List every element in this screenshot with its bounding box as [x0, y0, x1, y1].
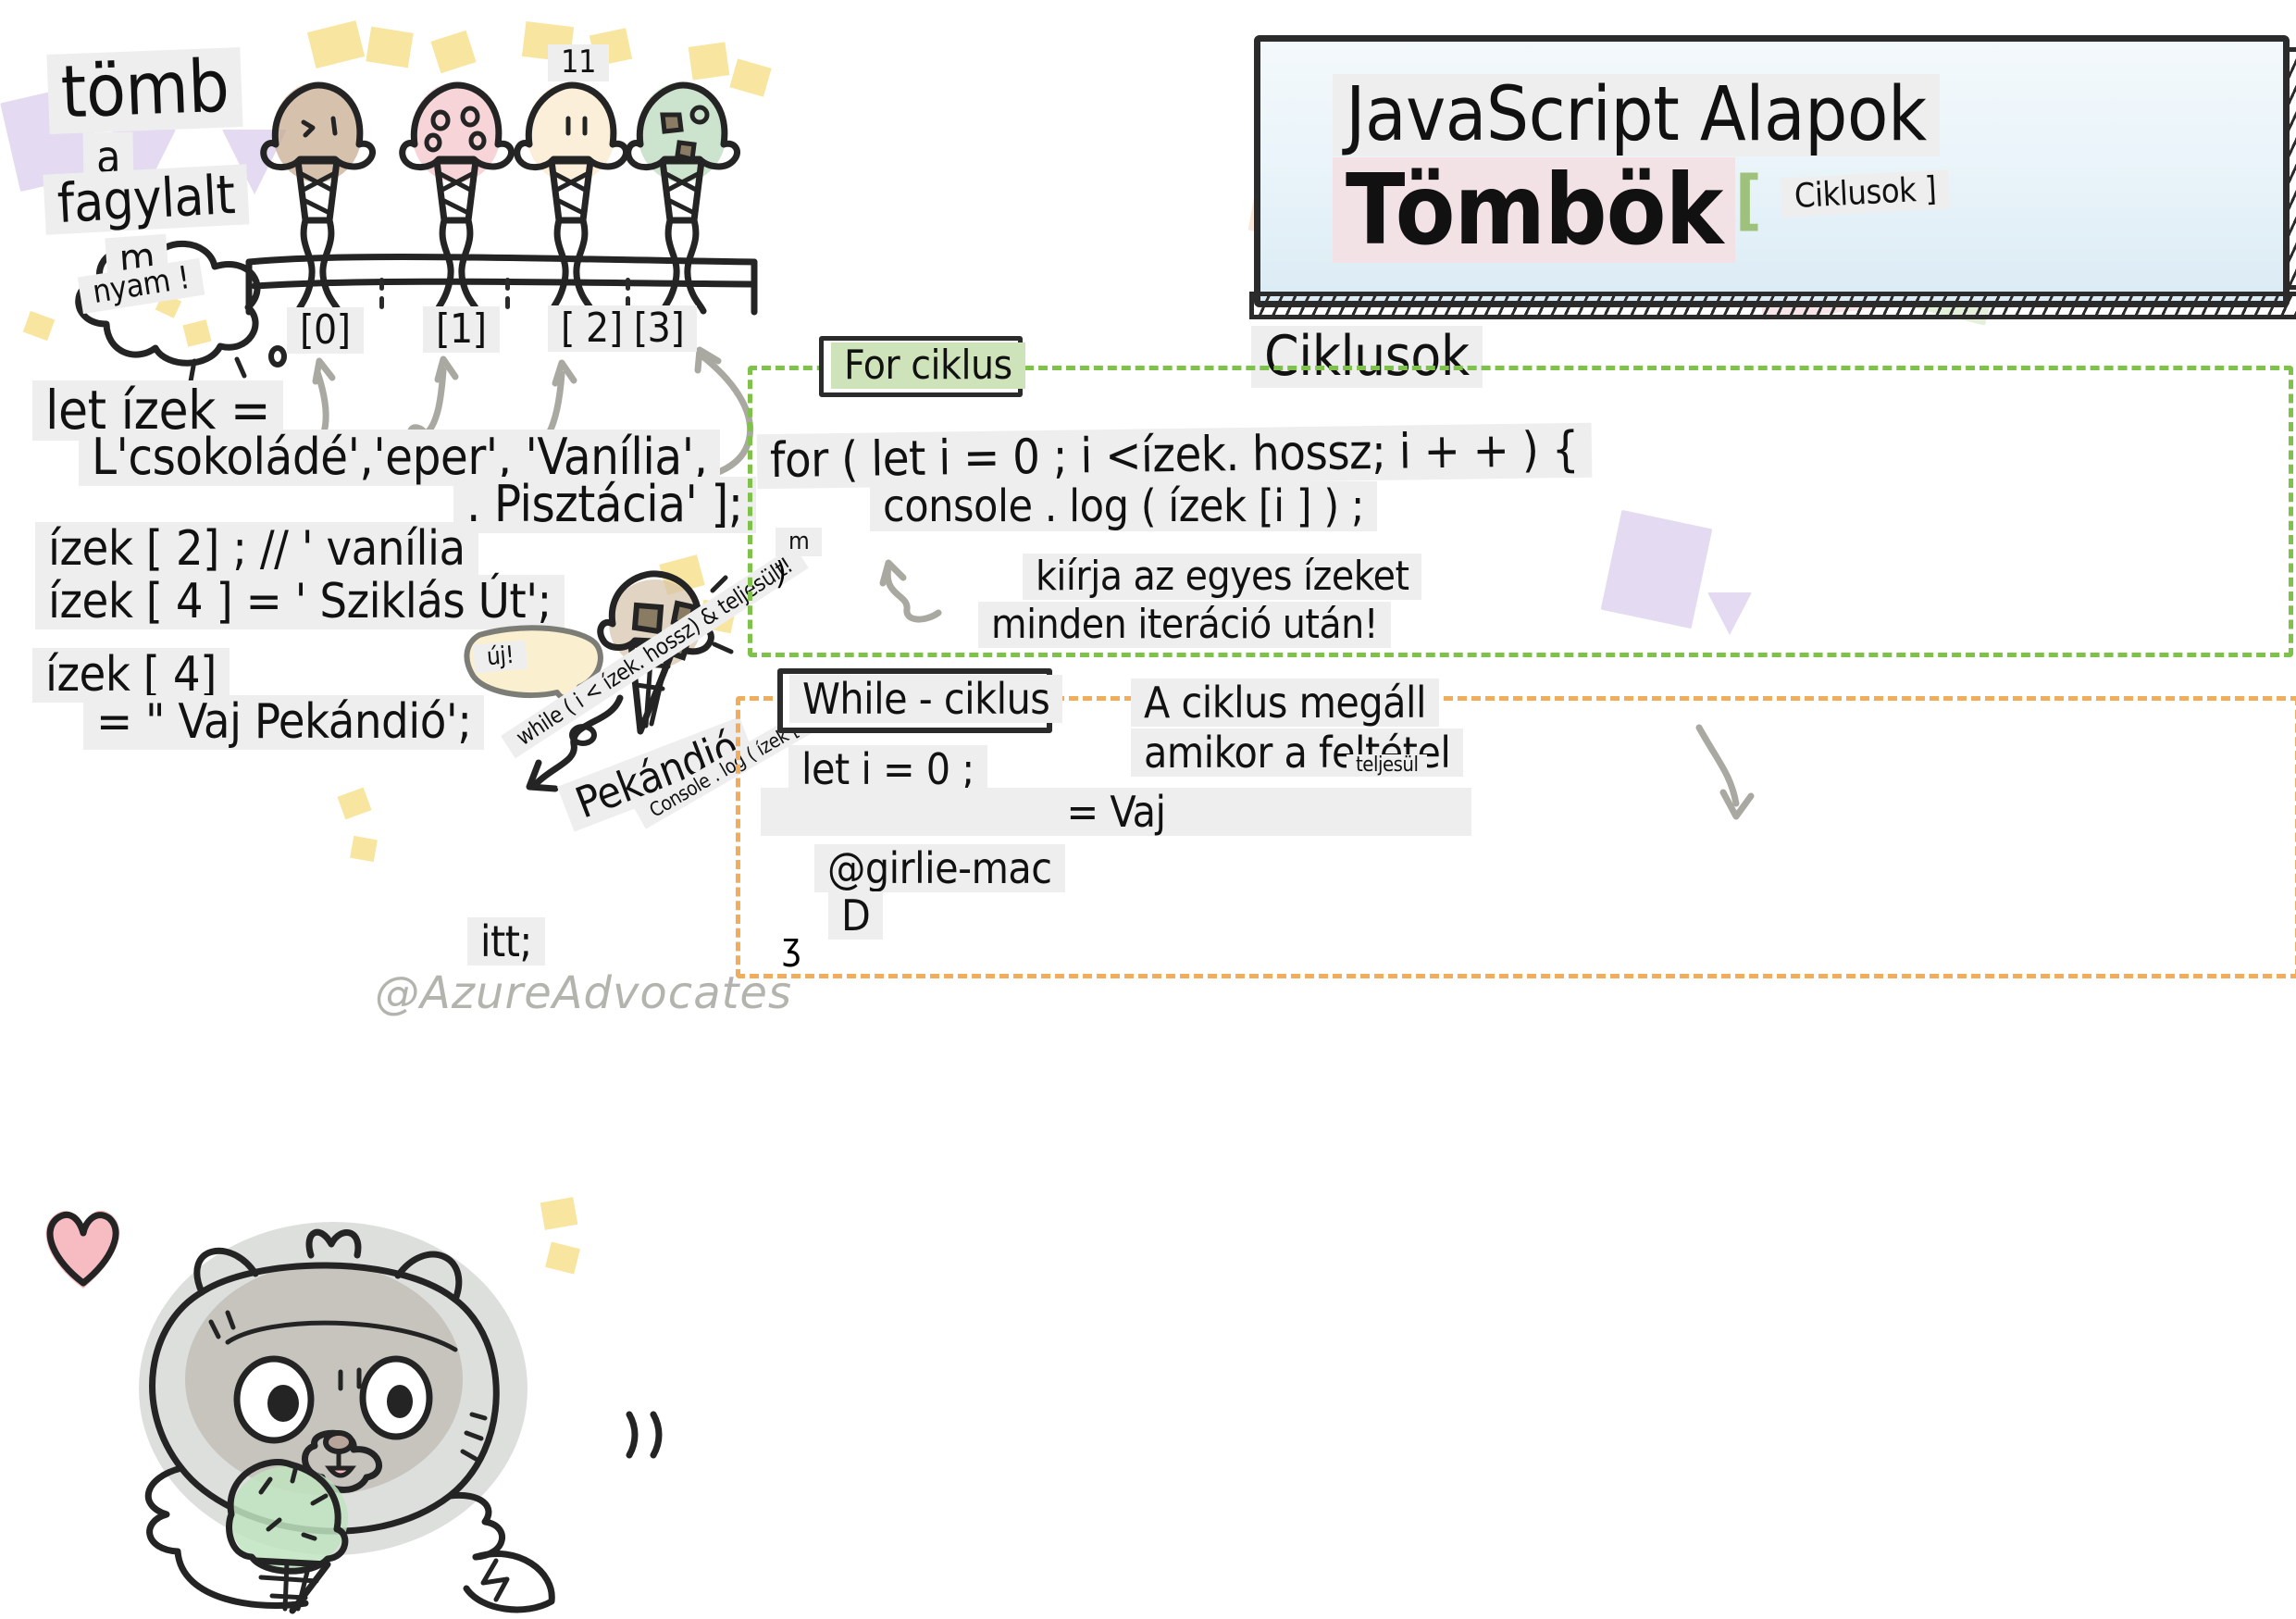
quote-marks-icon: [613, 1407, 687, 1472]
for-note-line2: minden iteráció után!: [978, 602, 1391, 648]
array-divider-tick: [379, 296, 384, 309]
for-note-line1: kiírja az egyes ízeket: [1023, 554, 1421, 600]
washi-tape: [350, 836, 378, 862]
washi-tape: [430, 31, 476, 74]
label-fagylalt: fagylalt: [43, 164, 249, 234]
array-index-0: [0]: [287, 307, 364, 354]
for-note-arrow: [877, 555, 979, 639]
code-itt: itt;: [467, 917, 545, 965]
for-badge-label: For ciklus: [831, 342, 1025, 389]
array-divider-tick: [379, 278, 384, 291]
while-badge-label: While - ciklus: [789, 675, 1062, 723]
author-handle: @girlie-mac: [814, 844, 1065, 892]
array-divider-tick: [505, 296, 510, 309]
code-array-line2: . Pisztácia' ];: [453, 477, 756, 533]
sketchnote-canvas: tömb a fagylalt m nyam ! 11 [0] [1] [ 2]…: [0, 0, 2296, 1619]
raccoon-illustration: [93, 1203, 574, 1611]
title-bracket-open: [: [1735, 162, 1761, 238]
title-board-shelf: [1249, 292, 2296, 319]
washi-tape: [337, 788, 371, 820]
code-assign: ízek [ 4 ] = ' Sziklás Út';: [35, 575, 565, 629]
while-note-line3: teljesül: [1347, 754, 1427, 776]
for-loop-body: console . log ( ízek [i ] ) ;: [870, 481, 1377, 531]
watermark: @AzureAdvocates: [375, 967, 792, 1019]
array-index-2-3: [ 2] [3]: [548, 305, 697, 352]
while-body: = Vaj: [761, 788, 1471, 836]
washi-tape: [366, 27, 413, 68]
for-brace-m: m: [776, 528, 822, 556]
while-loop-region: [736, 696, 2296, 978]
while-note-line1: A ciklus megáll: [1131, 679, 1439, 727]
for-loop-header: for ( let i = 0 ; i <ízek. hossz; i + + …: [757, 423, 1593, 489]
while-extra: D: [828, 891, 883, 940]
while-init: let i = 0 ;: [788, 745, 987, 793]
array-index-1: [1]: [423, 306, 500, 353]
bubble-text-uj: új!: [473, 641, 528, 674]
washi-tape: [23, 311, 56, 341]
label-eleven: 11: [548, 44, 609, 81]
while-brace-close: ʒ: [782, 926, 800, 968]
for-brace-close: ): [776, 555, 786, 592]
label-tomb: tömb: [46, 47, 243, 134]
page-title: JavaScript Alapok: [1333, 74, 1940, 156]
while-note-arrow: [1684, 722, 1805, 824]
array-divider-tick: [626, 278, 630, 291]
code-access: ízek [ 2] ; // ' vanília: [35, 522, 478, 577]
code-assign2-value: = " Vaj Pekándió';: [83, 695, 484, 750]
washi-tape: [689, 42, 730, 80]
array-divider-tick: [505, 278, 510, 291]
page-subtitle: Tömbök: [1333, 157, 1735, 263]
washi-tape: [307, 20, 365, 68]
